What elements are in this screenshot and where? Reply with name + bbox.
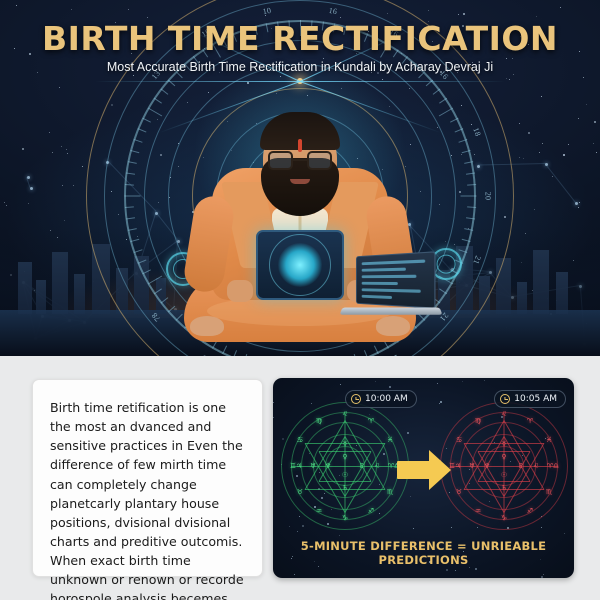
wheel-tick [138, 259, 147, 263]
star [519, 157, 520, 158]
star [71, 9, 72, 10]
chart-glyph: ♃ [455, 462, 461, 470]
star [67, 153, 68, 154]
chart-glyph: ♐ [527, 507, 533, 515]
star [564, 533, 565, 534]
wheel-tick [154, 288, 162, 294]
star [541, 96, 542, 97]
chart-glyph: ☉ [501, 471, 507, 479]
star [593, 143, 594, 144]
wheel-tick [142, 269, 151, 274]
star [539, 152, 540, 153]
chart-axis-line [345, 413, 346, 521]
comparison-panel: ♌♈♓♎♏♐♑♒♉♊♋♍☿♀☉♄♃♅♆♇♌♈ ♌♈♓♎♏♐♑♒♉♊♋♍☿♀☉♄♃… [273, 378, 574, 578]
laptop-base [340, 308, 443, 315]
wheel-tick [439, 288, 447, 294]
chart-glyph: ♀ [342, 453, 347, 461]
star [596, 152, 597, 153]
building [18, 262, 32, 314]
glasses-bridge [293, 159, 307, 161]
star [340, 384, 341, 385]
star [519, 123, 520, 124]
lower-section: Birth time retification is one the most … [0, 356, 600, 600]
chart-glyph: ♏ [546, 488, 552, 496]
star [82, 166, 83, 167]
page-title: BIRTH TIME RECTIFICATION [0, 19, 600, 58]
wheel-tick [450, 118, 459, 123]
code-line [362, 259, 426, 265]
chart-glyph: ♓ [546, 436, 552, 444]
star [413, 528, 414, 529]
description-card: Birth time retification is one the most … [32, 379, 263, 577]
chart-before: ♌♈♓♎♏♐♑♒♉♊♋♍☿♀☉♄♃♅♆♇♌♈ [281, 402, 409, 530]
chart-glyph: ♐ [368, 507, 374, 515]
code-line [362, 295, 392, 299]
chart-glyph: ♑ [342, 514, 348, 522]
chart-glyph: ♄ [501, 484, 507, 492]
star [128, 9, 129, 10]
wheel-number: 16 [328, 6, 338, 16]
wheel-tick [138, 128, 147, 132]
star [506, 58, 507, 59]
building [52, 252, 68, 314]
wheel-tick [130, 150, 139, 153]
clock-icon [351, 394, 361, 404]
star [586, 104, 587, 105]
time-label-before: 10:00 AM [365, 394, 408, 404]
astrologer-illustration [175, 86, 425, 346]
wheel-tick [126, 217, 135, 219]
star [560, 7, 561, 8]
chart-glyph: ♈ [547, 462, 553, 470]
chart-glyph: ♆ [325, 462, 331, 470]
star [339, 535, 340, 536]
star [73, 185, 74, 186]
chart-glyph: ♆ [484, 462, 490, 470]
star [61, 146, 62, 147]
star [297, 531, 298, 532]
chart-glyph: ♌ [533, 462, 539, 470]
chart-glyph: ♌ [342, 410, 348, 418]
star [64, 220, 65, 221]
star [552, 176, 553, 177]
code-line [362, 268, 406, 272]
chart-glyph: ♎ [553, 462, 559, 470]
chart-glyph: ♑ [501, 514, 507, 522]
time-label-after: 10:05 AM [514, 394, 557, 404]
chart-glyph: ♋ [297, 436, 303, 444]
star [506, 78, 507, 79]
chart-glyph: ♇ [518, 462, 524, 470]
wheel-tick [126, 173, 135, 175]
wheel-tick [461, 196, 477, 197]
wheel-tick [467, 206, 476, 208]
page-subtitle: Most Accurate Birth Time Rectification i… [0, 60, 600, 74]
lens-left [268, 151, 293, 170]
building [74, 274, 85, 314]
star [484, 380, 485, 381]
star [49, 132, 50, 133]
wheel-tick [466, 173, 475, 175]
foot-left [190, 316, 224, 336]
chart-after: ♌♈♓♎♏♐♑♒♉♊♋♍☿♀☉♄♃♅♆♇♌♈ [440, 402, 568, 530]
wheel-tick [433, 88, 441, 94]
star [389, 386, 391, 388]
chart-glyph: ♌ [501, 410, 507, 418]
foot-right [376, 316, 410, 336]
wheel-tick [125, 196, 141, 197]
time-badge-after: 10:05 AM [494, 390, 566, 408]
star [534, 209, 535, 210]
chart-glyph: ☉ [342, 471, 348, 479]
code-line [362, 282, 398, 285]
star [273, 402, 274, 403]
hand-left [227, 280, 253, 302]
star [273, 417, 274, 418]
wheel-tick [161, 297, 169, 303]
star [6, 205, 7, 206]
wheel-tick [464, 161, 473, 164]
lens-right [307, 151, 332, 170]
wheel-tick [374, 346, 379, 355]
chart-glyph: ♋ [456, 436, 462, 444]
wheel-tick [439, 108, 453, 117]
star [62, 185, 63, 186]
wheel-tick [134, 139, 143, 143]
wheel-tick [125, 184, 134, 186]
wheel-tick [462, 150, 471, 153]
panel-caption: 5-MINUTE DIFFERENCE = UNRIEABLE PREDICTI… [273, 539, 574, 567]
star [568, 144, 569, 145]
network-line [545, 164, 576, 203]
star [147, 17, 148, 18]
chart-glyph: ☿ [502, 440, 506, 448]
star [523, 158, 524, 159]
chart-glyph: ♉ [456, 488, 462, 496]
building [533, 250, 549, 314]
wheel-tick [466, 217, 475, 219]
wheel-number: 20 [484, 192, 493, 201]
wheel-tick [462, 239, 471, 242]
star [594, 121, 596, 123]
code-line [362, 275, 417, 278]
star [455, 570, 456, 571]
star [462, 381, 463, 382]
chart-glyph: ♍ [475, 417, 481, 425]
star [52, 152, 53, 153]
wheel-tick [455, 128, 464, 132]
chart-glyph: ♅ [469, 462, 475, 470]
eyeglasses-icon [268, 151, 332, 170]
star [59, 87, 60, 88]
building [36, 280, 46, 314]
star [437, 383, 438, 384]
wheel-tick [148, 108, 162, 117]
star [579, 202, 580, 203]
chart-glyph: ♇ [359, 462, 365, 470]
wheel-tick [154, 98, 162, 104]
star [22, 148, 24, 150]
star [528, 132, 530, 134]
chart-glyph: ♈ [368, 417, 374, 425]
star [475, 568, 477, 570]
wheel-tick [142, 118, 151, 123]
arrow-shaft [397, 461, 430, 479]
chart-glyph: ♃ [296, 462, 302, 470]
wheel-tick [467, 184, 476, 186]
wheel-tick [134, 249, 143, 253]
wheel-tick [222, 346, 227, 355]
mouth [290, 179, 310, 184]
arrow-head [429, 450, 451, 490]
wheel-tick [458, 249, 467, 253]
chart-axis-line [504, 413, 505, 521]
building [556, 272, 568, 314]
wheel-tick [458, 139, 467, 143]
time-badge-before: 10:00 AM [345, 390, 417, 408]
chart-glyph: ♄ [342, 484, 348, 492]
star [66, 149, 67, 150]
laptop-device [337, 254, 433, 316]
description-text: Birth time retification is one the most … [50, 398, 248, 600]
tablet-glow-core [278, 243, 322, 287]
star [4, 202, 5, 203]
chart-glyph: ♈ [388, 462, 394, 470]
chart-glyph: ♌ [374, 462, 380, 470]
hero-banner: 131010161616182021212020787878 [0, 0, 600, 356]
chart-glyph: ☿ [343, 440, 347, 448]
star [583, 77, 584, 78]
star [16, 5, 17, 6]
star [578, 118, 579, 119]
star [536, 16, 537, 17]
star [509, 79, 510, 80]
chart-glyph: ♉ [297, 488, 303, 496]
laptop-screen [356, 251, 436, 308]
wheel-tick [464, 228, 473, 231]
star [463, 13, 465, 15]
star [375, 381, 376, 382]
chart-glyph: ♒ [316, 507, 322, 515]
wheel-tick [125, 206, 134, 208]
wheel-tick [148, 276, 162, 285]
star [543, 574, 544, 575]
arrow-right-icon [397, 450, 451, 490]
wheel-tick [161, 88, 169, 94]
star [541, 576, 543, 578]
star [563, 154, 565, 156]
wheel-tick [130, 239, 139, 242]
star [542, 143, 543, 144]
clock-icon [500, 394, 510, 404]
star [446, 569, 448, 571]
star [458, 14, 459, 15]
code-line [362, 288, 421, 292]
star [410, 496, 411, 497]
chart-glyph: ♏ [387, 488, 393, 496]
tablet-device [256, 230, 344, 300]
chart-glyph: ♒ [475, 507, 481, 515]
poster-root: 131010161616182021212020787878 [0, 0, 600, 600]
wheel-tick [128, 228, 137, 231]
chart-glyph: ♓ [387, 436, 393, 444]
chart-glyph: ♅ [310, 462, 316, 470]
chart-glyph: ♍ [316, 417, 322, 425]
star [294, 574, 295, 575]
star [428, 10, 429, 11]
star [578, 207, 579, 208]
wheel-tick [439, 98, 447, 104]
chart-glyph: ♈ [527, 417, 533, 425]
wheel-tick [128, 161, 137, 164]
star [28, 203, 29, 204]
chart-glyph: ♀ [501, 453, 506, 461]
